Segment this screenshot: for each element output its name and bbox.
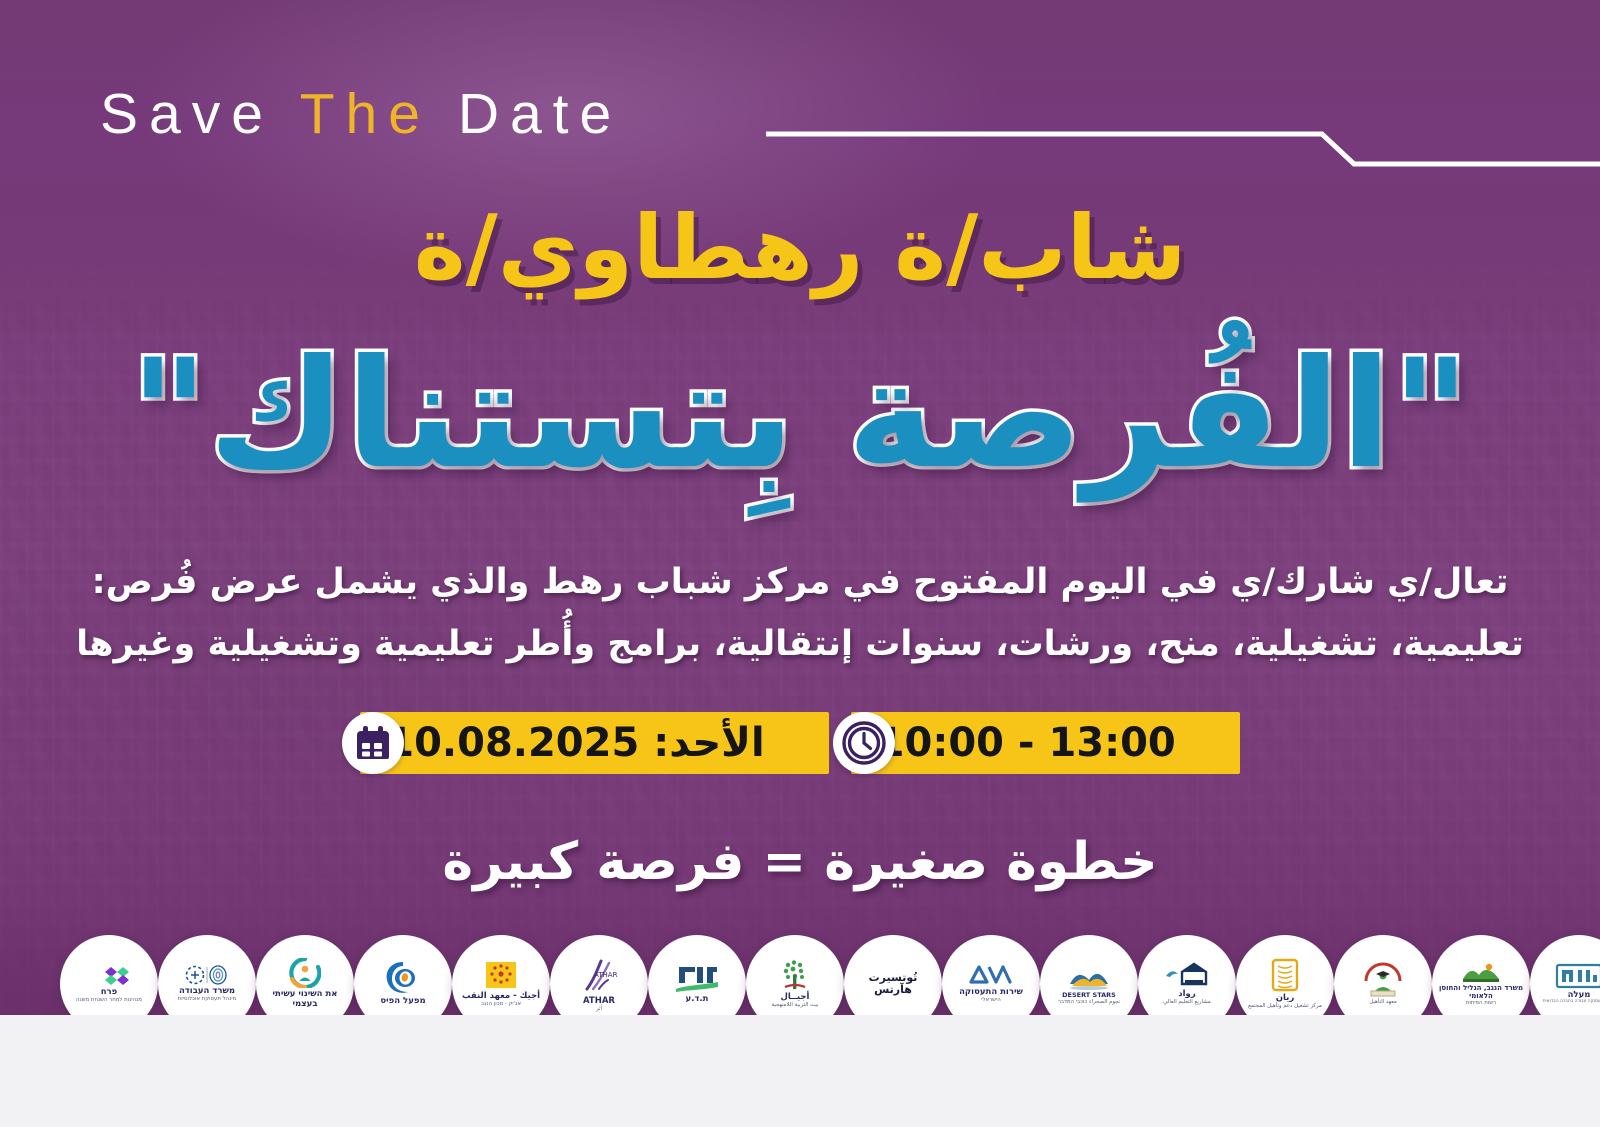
logo-sub: بيت التربية اللامنهجية <box>772 1003 819 1009</box>
logo-sub: רשות הפיתוח <box>1466 1001 1496 1007</box>
bent-divider-line-icon <box>766 124 1600 174</box>
poster-canvas: Save The Date شاب/ة رهطاوي/ة "الفُرصة بِ… <box>0 0 1600 1127</box>
body-line-1: تعال/ي شارك/ي في اليوم المفتوح في مركز ش… <box>70 552 1530 612</box>
body-line-2: تعليمية، تشغيلية، منح، ورشات، سنوات إنتق… <box>70 614 1530 674</box>
calendar-icon <box>342 712 404 774</box>
logo-caption: מפעל הפיס <box>380 997 425 1007</box>
logo-sub: אג'יק - מכון הנגב <box>481 1002 521 1008</box>
svg-text:ATHAR: ATHAR <box>594 971 618 979</box>
logo-caption: משרד הנגב, הגליל והחוסן הלאומי <box>1438 985 1524 1001</box>
logo-sub: مركز تشغيل دعم وتأهيل المجتمع <box>1248 1004 1322 1010</box>
time-badge-label: 13:00 - 10:00 <box>877 712 1176 774</box>
body-copy: تعال/ي شارك/ي في اليوم المفتوح في مركز ش… <box>70 552 1530 674</box>
logo-sub: أثر <box>596 1007 602 1013</box>
event-details-badges: 13:00 - 10:00 الأحد: 10.08.2025 <box>0 712 1600 774</box>
save-the-date-text: Save The Date <box>100 74 622 154</box>
logo-sub: מנהיגות למחר השנחת משנה <box>76 998 142 1004</box>
headline-kicker: شاب/ة رهطاوي/ة <box>0 196 1600 299</box>
bottom-strip <box>0 1015 1600 1127</box>
logo-sub: מינהל תעסוקת אוכלוסיות <box>178 997 236 1003</box>
tagline: خطوة صغيرة = فرصة كبيرة <box>0 832 1600 892</box>
logo-sub: مشاريع التعليم العالي <box>1163 1000 1211 1006</box>
logo-sub: הישראלי <box>981 998 1000 1004</box>
date-badge-label: الأحد: 10.08.2025 <box>386 712 764 774</box>
save-the-date-row: Save The Date <box>0 74 1600 154</box>
logo-sub: نجوم الصحراء כוכבי המדבר <box>1058 1000 1120 1006</box>
time-badge: 13:00 - 10:00 <box>851 712 1240 774</box>
save-word: Save <box>100 82 274 146</box>
clock-icon <box>833 712 895 774</box>
date-badge: الأحد: 10.08.2025 <box>360 712 828 774</box>
logo-sub: معهد التأهيل <box>1369 1000 1396 1006</box>
logo-caption: את השינוי עשיתי בעצמי <box>262 990 348 1009</box>
logo-caption: تُوتسيرت هآرتس <box>850 972 936 997</box>
page-title: "الفُرصة بِتستناك" <box>0 322 1600 510</box>
the-word: The <box>300 82 431 146</box>
logo-sub: חינוך ותעסוקה עבודה בחברה הבדואית <box>1543 1000 1600 1005</box>
date-word: Date <box>458 82 622 146</box>
logo-caption: ת.ד.ע <box>686 995 709 1005</box>
